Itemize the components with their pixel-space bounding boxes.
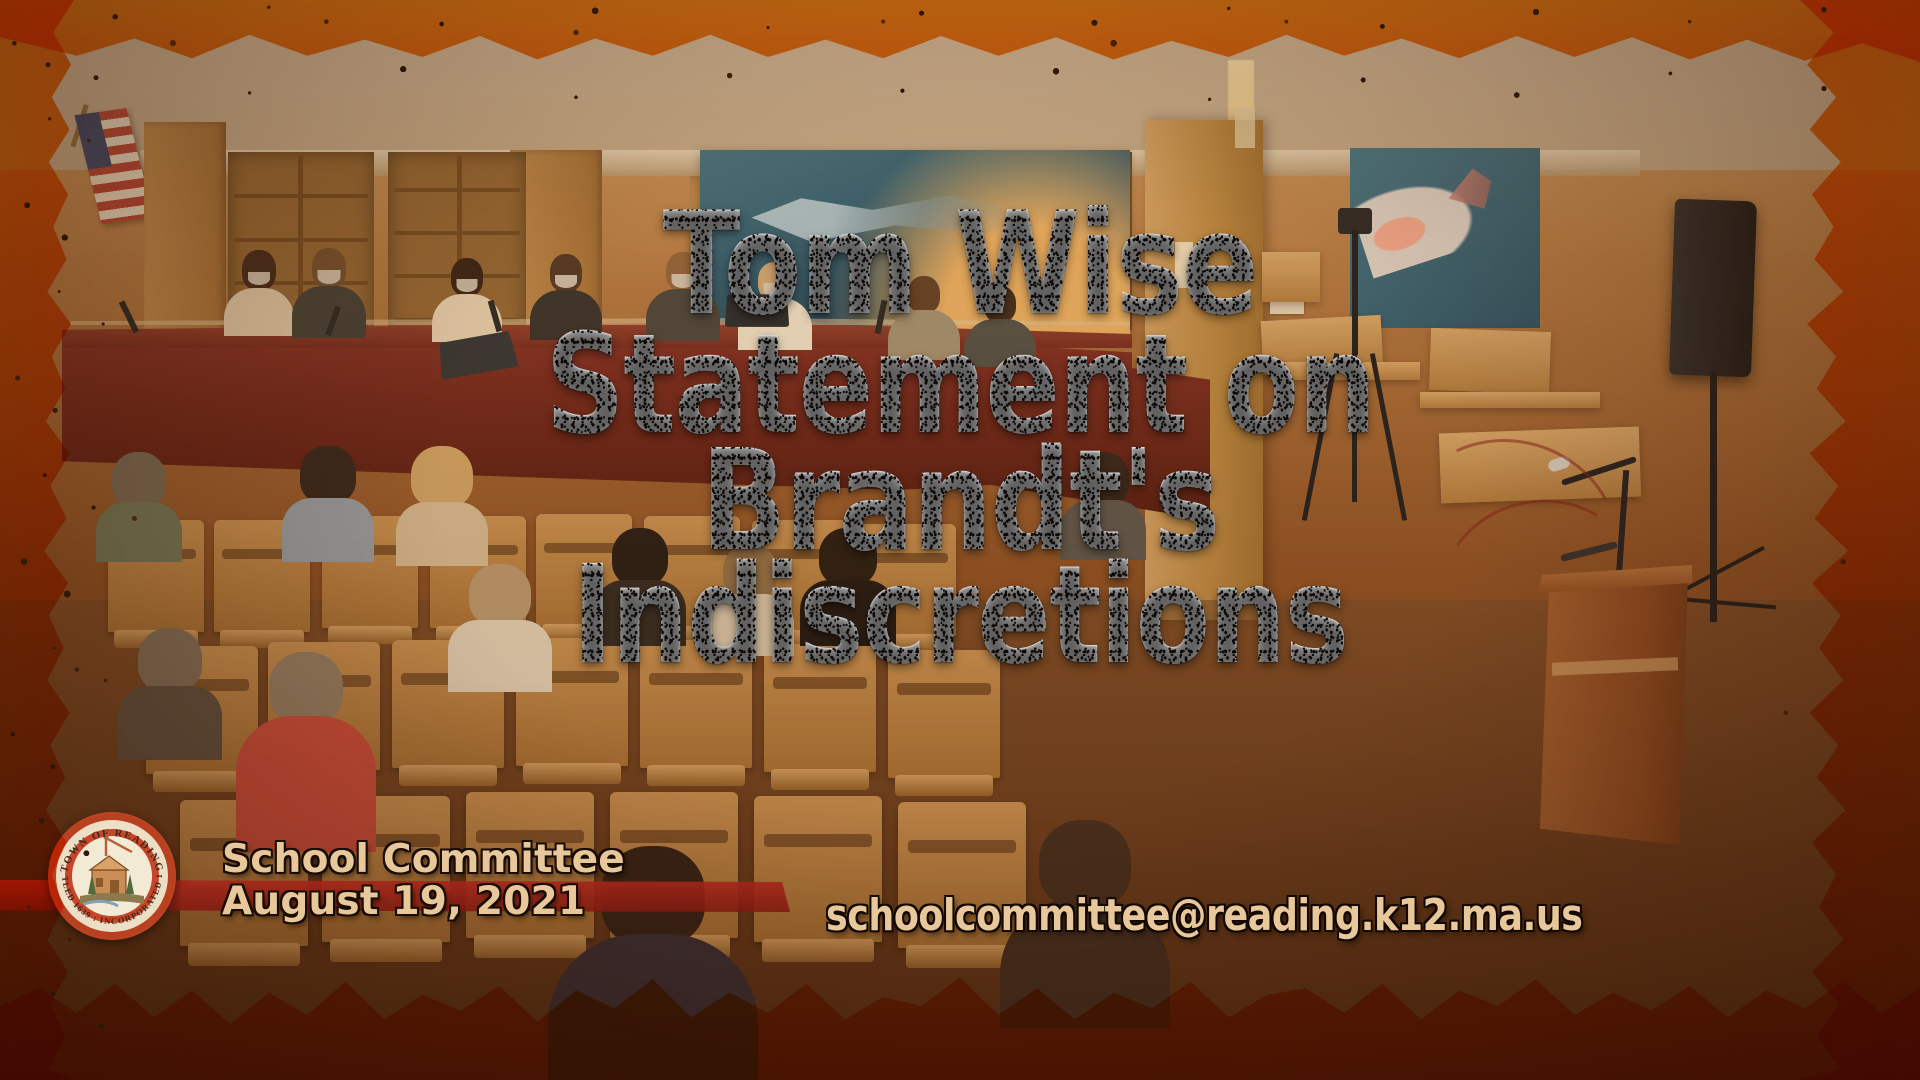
podium [1540,575,1688,845]
library-shelf [1420,392,1600,408]
laptop [725,294,790,326]
committee-member [962,286,1038,366]
wall-panel [144,122,226,348]
wall-box [1235,108,1255,148]
audience-member [282,446,374,548]
library-divider [1262,252,1320,302]
audience-member [118,628,222,746]
speaker-stand-pole [1710,372,1717,622]
meeting-date: August 19, 2021 [222,882,625,922]
committee-member [886,276,962,358]
audience-member [1060,452,1146,548]
audience-member [448,564,552,680]
video-frame: Tom Wise Statement on Brandt's Indiscret… [0,0,1920,1080]
committee-member [222,250,296,334]
audience-member [800,528,896,632]
library-carrel [1429,328,1551,394]
wall-sign [1175,242,1193,288]
audience-member [236,652,376,842]
audience-chair [888,650,1000,778]
library-shelf [1270,362,1420,380]
audience-chair [640,640,752,768]
audience-member [706,544,794,644]
support-pillar [1145,120,1263,620]
microphone [119,300,139,333]
contact-email: schoolcommittee@reading.k12.ma.us [826,890,1583,941]
audience-member [594,528,686,632]
committee-member [644,252,722,340]
audience-chair [764,644,876,772]
audience-member [396,446,488,550]
committee-member [528,254,604,340]
audience-member [96,452,182,548]
committee-name: School Committee [222,837,625,882]
meeting-info: School Committee August 19, 2021 [222,840,625,922]
tripod-leg [1352,352,1357,502]
pa-speaker [1669,199,1757,378]
tripod-pole [1352,230,1358,355]
back-wall [0,0,1920,170]
town-of-reading-seal: TOWN OF READING SETTLED 1639 : INCORPORA… [48,812,176,940]
